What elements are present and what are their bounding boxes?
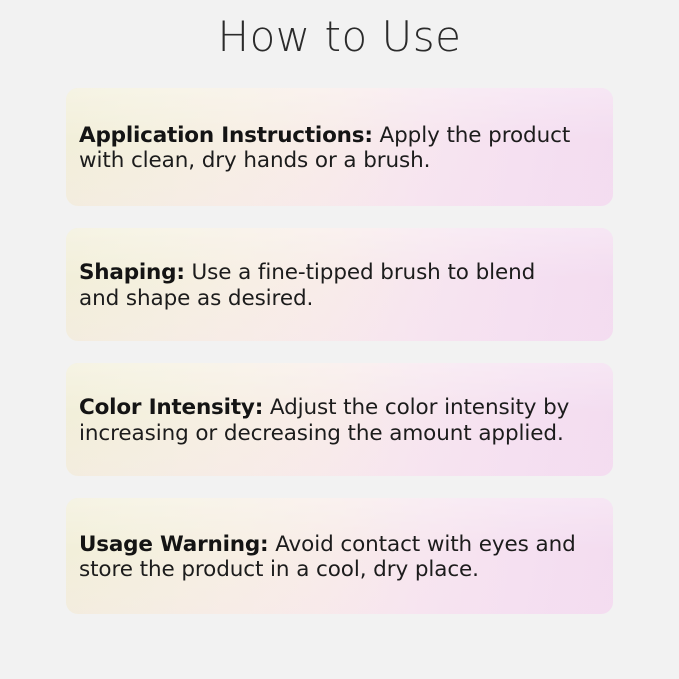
instruction-card-text: Color Intensity: Adjust the color intens… (79, 395, 579, 446)
instruction-card-label: Usage Warning: (79, 532, 268, 557)
instruction-card-list: Application Instructions: Apply the prod… (66, 88, 613, 614)
instruction-card-application-instructions: Application Instructions: Apply the prod… (66, 88, 613, 206)
instruction-card-usage-warning: Usage Warning: Avoid contact with eyes a… (66, 498, 613, 614)
instruction-card-label: Color Intensity: (79, 395, 263, 420)
instruction-card-shaping: Shaping: Use a fine-tipped brush to blen… (66, 228, 613, 341)
instruction-card-color-intensity: Color Intensity: Adjust the color intens… (66, 363, 613, 476)
page-title: How to Use (0, 14, 679, 60)
how-to-use-page: How to Use Application Instructions: App… (0, 0, 679, 679)
instruction-card-label: Application Instructions: (79, 123, 373, 148)
instruction-card-text: Usage Warning: Avoid contact with eyes a… (79, 532, 579, 583)
instruction-card-label: Shaping: (79, 260, 185, 285)
instruction-card-text: Application Instructions: Apply the prod… (79, 123, 579, 174)
instruction-card-text: Shaping: Use a fine-tipped brush to blen… (79, 260, 579, 311)
